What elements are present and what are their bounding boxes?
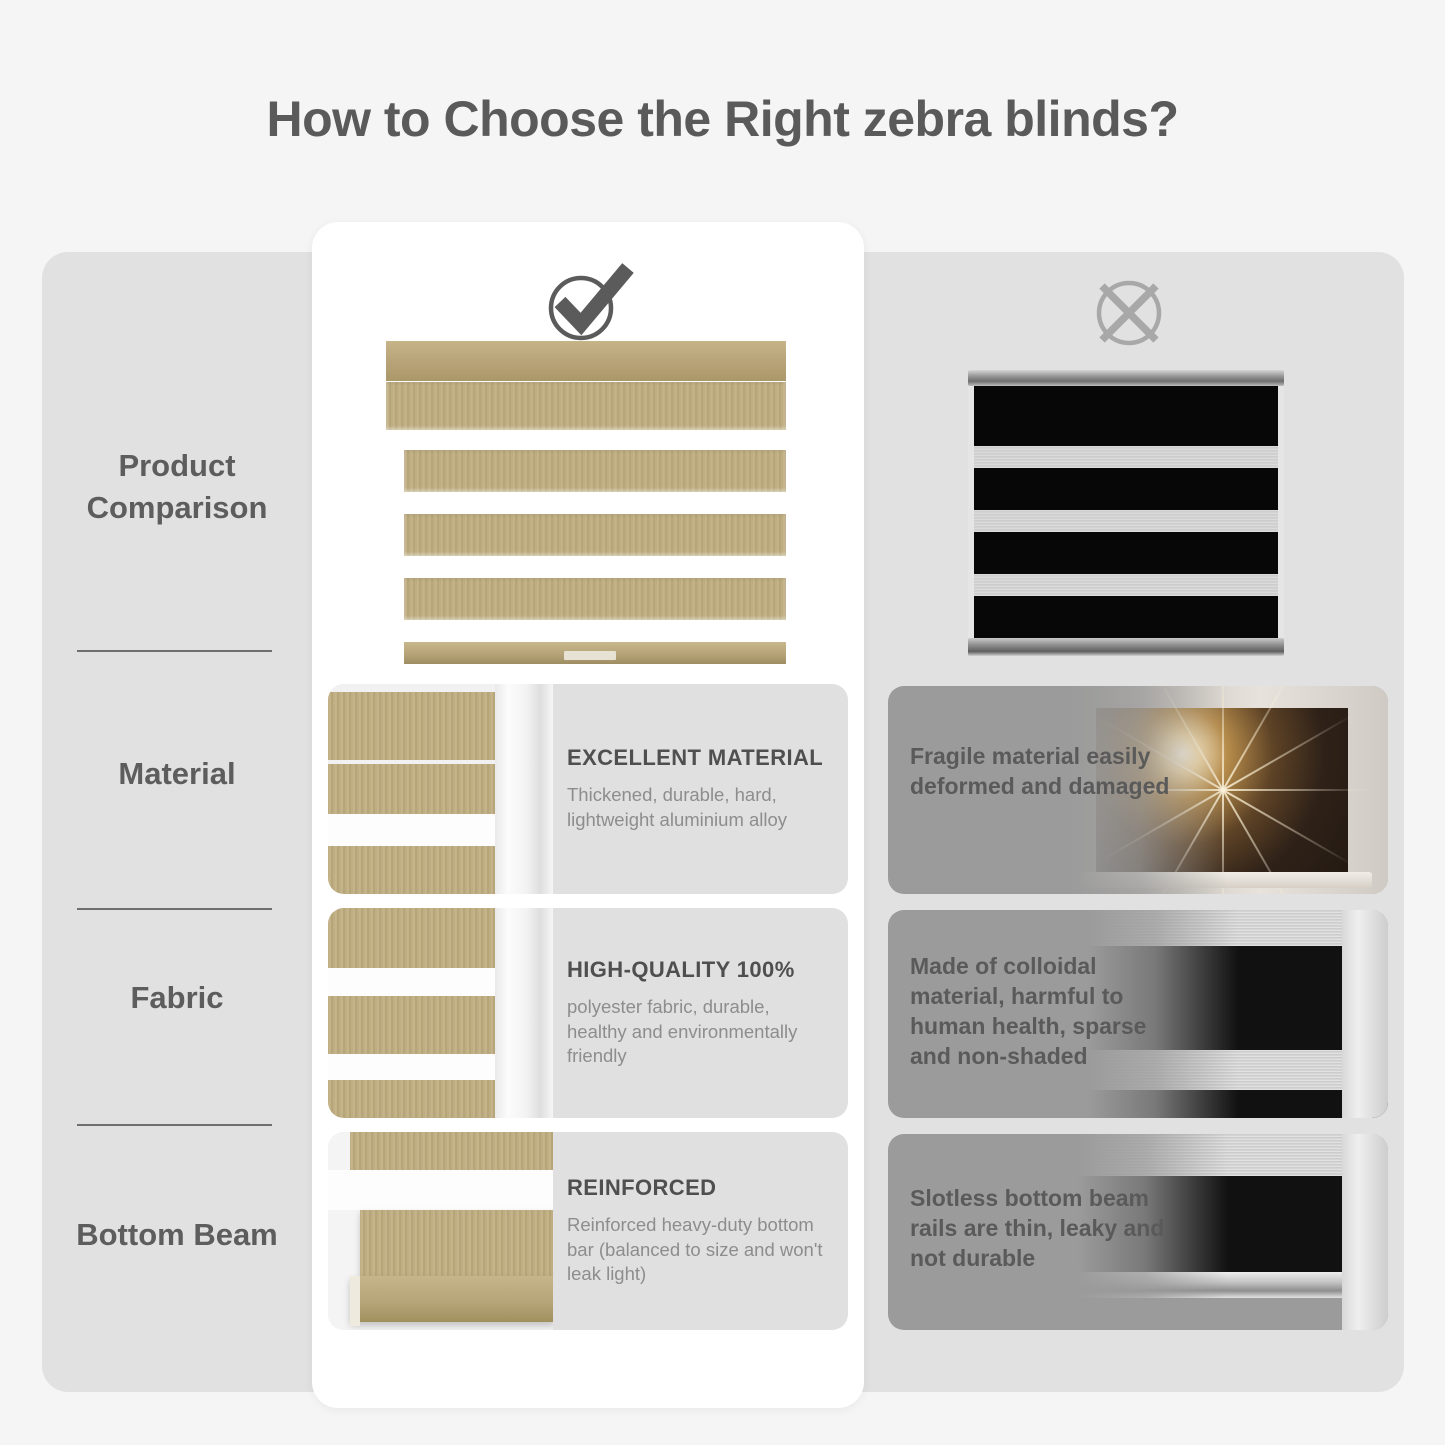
cross-circle-icon (1088, 272, 1170, 354)
check-circle-icon (538, 258, 638, 346)
row-divider-3 (77, 1124, 272, 1126)
black-sheer-2 (974, 510, 1278, 532)
photo-sheer-gap-2 (328, 1054, 500, 1080)
photo-bottom-bar-endcap (350, 1276, 360, 1326)
photo-beige-band-2 (328, 996, 500, 1054)
negative-card-material[interactable]: Fragile material easily deformed and dam… (888, 686, 1388, 894)
feature-title: HIGH-QUALITY 100% (567, 957, 830, 983)
feature-title: REINFORCED (567, 1175, 830, 1201)
beige-band-4 (404, 578, 786, 620)
negative-text-fabric: Made of colloidal material, harmful to h… (910, 952, 1190, 1072)
beige-band-2 (404, 450, 786, 492)
beige-band-3 (404, 514, 786, 556)
black-band-2 (974, 468, 1278, 510)
photo-sheer-gap (328, 814, 500, 846)
feature-text-fabric: HIGH-QUALITY 100% polyester fabric, dura… (553, 908, 848, 1118)
photo-beige-band-1 (328, 908, 500, 968)
black-bottom-rail (968, 638, 1284, 656)
negative-text-bottom-beam: Slotless bottom beam rails are thin, lea… (910, 1184, 1180, 1274)
photo-beige-band-3 (328, 1080, 500, 1118)
negative-card-bottom-beam[interactable]: Slotless bottom beam rails are thin, lea… (888, 1134, 1388, 1330)
black-band-3 (974, 532, 1278, 574)
feature-card-fabric[interactable]: HIGH-QUALITY 100% polyester fabric, dura… (328, 908, 848, 1118)
feature-text-bottom-beam: REINFORCED Reinforced heavy-duty bottom … (553, 1132, 848, 1330)
feature-text-material: EXCELLENT MATERIAL Thickened, durable, h… (553, 684, 848, 894)
photo-window-frame (495, 908, 553, 1118)
page-title: How to Choose the Right zebra blinds? (0, 90, 1445, 148)
feature-description: polyester fabric, durable, healthy and e… (567, 995, 830, 1069)
row-divider-2 (77, 908, 272, 910)
black-sheer-3 (974, 574, 1278, 596)
negative-card-fabric[interactable]: Made of colloidal material, harmful to h… (888, 910, 1388, 1118)
black-band-1 (974, 386, 1278, 446)
photo-sheer-gap (328, 1170, 553, 1210)
photo-window-frame (1342, 1134, 1388, 1330)
photo-beige-band-top (350, 1132, 553, 1170)
feature-photo-bottom-beam (328, 1132, 553, 1330)
photo-sheer-gap-1 (328, 968, 500, 996)
photo-beige-band-2 (328, 764, 500, 814)
feature-card-material[interactable]: EXCELLENT MATERIAL Thickened, durable, h… (328, 684, 848, 894)
row-label-material: Material (42, 742, 312, 806)
photo-window-frame (1342, 910, 1388, 1118)
feature-photo-material (328, 684, 553, 894)
row-label-product-comparison: Product Comparison (42, 422, 312, 552)
feature-description: Reinforced heavy-duty bottom bar (balanc… (567, 1213, 830, 1287)
feature-photo-fabric (328, 908, 553, 1118)
beige-headrail (386, 341, 786, 382)
black-sheer-1 (974, 446, 1278, 468)
feature-title: EXCELLENT MATERIAL (567, 745, 830, 771)
row-label-column: Product Comparison Material Fabric Botto… (42, 252, 312, 1392)
row-label-bottom-beam: Bottom Beam (42, 1182, 312, 1288)
row-divider-1 (77, 650, 272, 652)
photo-window-frame (495, 684, 553, 894)
beige-band-1 (386, 382, 786, 430)
infographic-root: How to Choose the Right zebra blinds? Pr… (0, 0, 1445, 1445)
beige-bottom-bar-tab (564, 651, 616, 660)
negative-text-material: Fragile material easily deformed and dam… (910, 742, 1170, 802)
photo-beige-band-1 (328, 692, 500, 760)
hero-black-zebra-blind (968, 370, 1284, 654)
photo-reinforced-bottom-bar (350, 1276, 553, 1322)
photo-beige-band-3 (328, 846, 500, 894)
row-label-fabric: Fabric (42, 966, 312, 1030)
feature-card-bottom-beam[interactable]: REINFORCED Reinforced heavy-duty bottom … (328, 1132, 848, 1330)
hero-beige-zebra-blind (386, 341, 786, 666)
black-headrail (968, 370, 1284, 386)
photo-beige-band-middle (360, 1210, 553, 1280)
feature-description: Thickened, durable, hard, lightweight al… (567, 783, 830, 832)
black-band-4 (974, 596, 1278, 638)
